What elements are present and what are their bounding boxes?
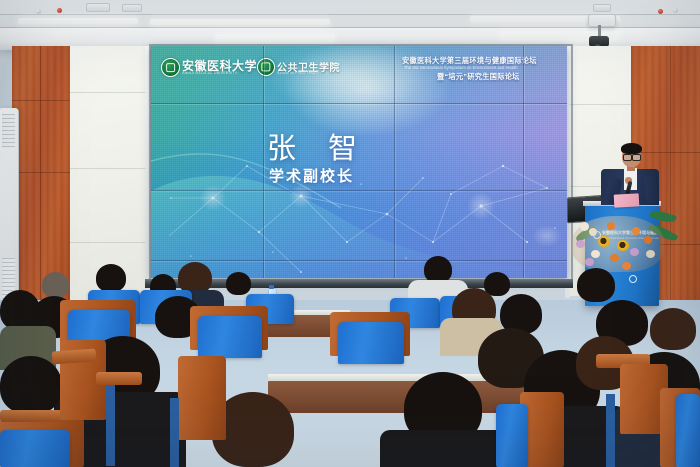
led-header-line2: The 3rd International Symposium on Envir… bbox=[404, 65, 518, 70]
wall-panel-seam bbox=[40, 46, 41, 301]
ceiling-light-strip bbox=[18, 18, 138, 24]
flower-purple bbox=[630, 248, 639, 256]
seat[interactable] bbox=[676, 394, 700, 467]
slide-speaker-title: 学术副校长 bbox=[269, 165, 354, 186]
glasses-icon bbox=[632, 154, 641, 161]
audience-head bbox=[226, 272, 251, 295]
projector-mount bbox=[588, 14, 616, 27]
sunflower bbox=[617, 240, 629, 251]
audience-head bbox=[424, 256, 452, 283]
audience-head bbox=[0, 356, 62, 414]
sprinkler-icon bbox=[36, 9, 41, 14]
flower-orange bbox=[607, 222, 615, 230]
flower-white bbox=[591, 250, 600, 258]
wall-panel-seam bbox=[12, 172, 70, 173]
flower-orange bbox=[622, 262, 631, 270]
seat-leg bbox=[170, 398, 179, 467]
glasses-icon bbox=[623, 154, 632, 161]
table-aisle bbox=[268, 381, 530, 413]
conference-hall-photo: 安徽医科大学 ANHUI MEDICAL UNIVERSITY 公共卫生学院 S… bbox=[0, 0, 700, 467]
ceiling-light-strip bbox=[215, 34, 335, 42]
seat[interactable] bbox=[198, 316, 262, 358]
audience-head bbox=[96, 264, 126, 292]
flower-orange bbox=[644, 236, 652, 244]
led-logo-sph-en: School of Public Health bbox=[277, 71, 319, 75]
audience-head bbox=[577, 268, 615, 302]
seat-armrest[interactable] bbox=[0, 410, 62, 422]
seat[interactable] bbox=[338, 322, 404, 364]
ceiling-light-strip bbox=[150, 19, 330, 25]
ceiling-speaker-icon bbox=[593, 4, 611, 12]
ceiling-speaker-icon bbox=[122, 4, 142, 12]
sunflower bbox=[598, 236, 610, 247]
bottle-cap bbox=[269, 285, 274, 289]
audience-head bbox=[42, 272, 69, 298]
sprinkler-icon bbox=[673, 8, 678, 13]
flower-white bbox=[589, 228, 597, 236]
slide-speaker-name: 张 智 bbox=[267, 125, 369, 167]
sprinkler-icon bbox=[57, 8, 62, 13]
led-header-line3: 暨“培元”研究生国际论坛 bbox=[437, 72, 520, 82]
flower-white bbox=[646, 250, 655, 258]
air-conditioner-unit bbox=[0, 108, 19, 313]
seat-leg bbox=[606, 394, 615, 467]
wall-panel-seam bbox=[631, 152, 700, 153]
school-seal-icon bbox=[257, 58, 275, 76]
led-logo-ahmu-en: ANHUI MEDICAL UNIVERSITY bbox=[182, 71, 237, 75]
flower-purple bbox=[576, 240, 585, 248]
flower-orange bbox=[610, 254, 619, 262]
audience-torso bbox=[380, 430, 506, 467]
podium-seal-icon bbox=[629, 275, 637, 283]
flower-orange bbox=[632, 227, 640, 235]
seat[interactable] bbox=[0, 430, 70, 467]
seat-back[interactable] bbox=[178, 356, 226, 440]
sprinkler-icon bbox=[658, 9, 663, 14]
audience-head bbox=[650, 308, 696, 350]
wall-wood-panel-left bbox=[12, 46, 70, 301]
wall-panel-seam bbox=[670, 46, 671, 306]
flower-purple bbox=[585, 258, 594, 266]
wall-panel-seam bbox=[12, 100, 70, 101]
university-seal-icon bbox=[161, 58, 180, 77]
wall-trim bbox=[145, 46, 150, 298]
flower-white bbox=[580, 222, 589, 231]
speaker-hair bbox=[621, 143, 642, 154]
ac-vent-grill bbox=[2, 114, 15, 148]
seat-leg bbox=[106, 378, 115, 466]
pink-folder bbox=[614, 193, 640, 207]
ceiling-speaker-icon bbox=[86, 3, 110, 12]
seat-armrest[interactable] bbox=[96, 372, 142, 385]
led-video-wall: 安徽医科大学 ANHUI MEDICAL UNIVERSITY 公共卫生学院 S… bbox=[151, 46, 567, 278]
seat[interactable] bbox=[496, 404, 528, 467]
